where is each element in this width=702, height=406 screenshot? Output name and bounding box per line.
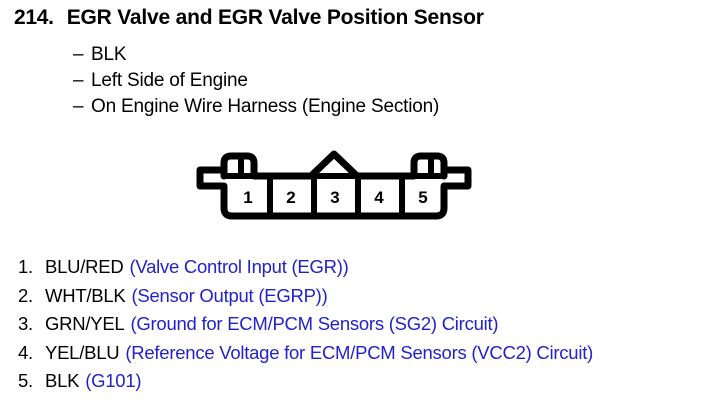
connector-cell-2: 2	[286, 188, 295, 207]
detail-item: –On Engine Wire Harness (Engine Section)	[73, 94, 439, 120]
connector-outline-svg: 1 2 3 4 5	[178, 148, 490, 224]
dash-bullet-icon: –	[73, 42, 91, 68]
title-number: 214.	[14, 6, 54, 29]
cell-divider	[355, 176, 361, 216]
pin-description: (Valve Control Input (EGR))	[129, 256, 348, 277]
detail-item: –BLK	[73, 42, 439, 68]
pin-index: 3.	[18, 310, 45, 339]
pin-list-item: 2.WHT/BLK(Sensor Output (EGRP))	[18, 282, 702, 311]
detail-item-label: Left Side of Engine	[91, 70, 248, 91]
pin-index: 2.	[18, 282, 45, 311]
pin-description: (Reference Voltage for ECM/PCM Sensors (…	[125, 342, 593, 363]
pin-wire-color: WHT/BLK	[45, 285, 125, 306]
dash-bullet-icon: –	[73, 94, 91, 120]
pin-description: (G101)	[85, 370, 141, 391]
connector-cell-4: 4	[374, 188, 384, 207]
pin-list: 1.BLU/RED(Valve Control Input (EGR)) 2.W…	[18, 253, 702, 396]
pin-index: 4.	[18, 339, 45, 368]
pin-list-item: 3.GRN/YEL(Ground for ECM/PCM Sensors (SG…	[18, 310, 702, 339]
cell-divider	[399, 176, 405, 216]
cell-divider	[311, 176, 317, 216]
connector-cell-1: 1	[243, 188, 252, 207]
pin-wire-color: GRN/YEL	[45, 313, 124, 334]
pin-description: (Sensor Output (EGRP))	[131, 285, 327, 306]
pin-wire-color: YEL/BLU	[45, 342, 119, 363]
dash-bullet-icon: –	[73, 68, 91, 94]
pin-index: 5.	[18, 367, 45, 396]
page-title: 214.EGR Valve and EGR Valve Position Sen…	[14, 6, 484, 30]
title-text: EGR Valve and EGR Valve Position Sensor	[67, 6, 484, 29]
connector-cell-5: 5	[418, 188, 427, 207]
pin-index: 1.	[18, 253, 45, 282]
pin-description: (Ground for ECM/PCM Sensors (SG2) Circui…	[130, 313, 498, 334]
pin-list-item: 4.YEL/BLU(Reference Voltage for ECM/PCM …	[18, 339, 702, 368]
connector-diagram: 1 2 3 4 5	[178, 148, 490, 224]
pin-wire-color: BLU/RED	[45, 256, 123, 277]
connector-cell-3: 3	[330, 188, 339, 207]
cell-divider	[267, 176, 273, 216]
cell-row-top-rail	[224, 173, 444, 179]
detail-item: –Left Side of Engine	[73, 68, 439, 94]
pin-list-item: 1.BLU/RED(Valve Control Input (EGR))	[18, 253, 702, 282]
detail-list: –BLK –Left Side of Engine –On Engine Wir…	[73, 42, 439, 120]
detail-item-label: On Engine Wire Harness (Engine Section)	[91, 96, 439, 117]
pin-list-item: 5.BLK(G101)	[18, 367, 702, 396]
pin-wire-color: BLK	[45, 370, 79, 391]
detail-item-label: BLK	[91, 44, 126, 65]
